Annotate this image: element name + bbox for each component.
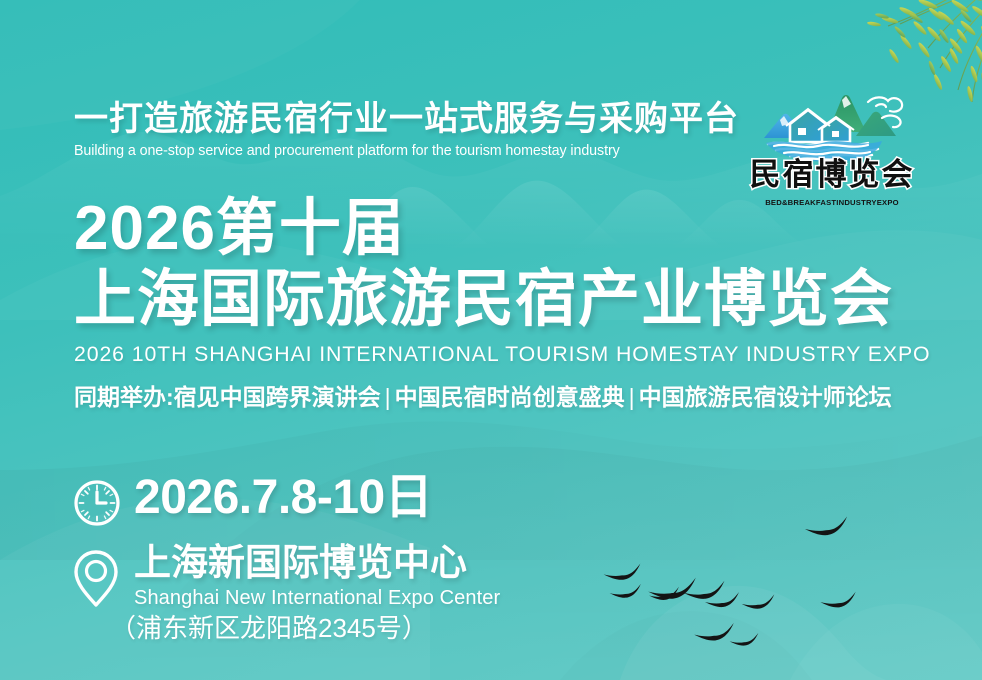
mountain-house-water-icon	[756, 86, 908, 166]
title-block: 2026第十届 上海国际旅游民宿产业博览会 2026 10TH SHANGHAI…	[74, 196, 939, 412]
hills-lower-right	[560, 586, 982, 680]
event-info-block: 2026.7.8-10日 上海新国际博览中心 Shanghai New Inte…	[72, 474, 500, 644]
clock-icon	[72, 478, 122, 528]
concurrent-label: 同期举办:	[74, 384, 174, 410]
date-row: 2026.7.8-10日	[72, 474, 500, 528]
page-title-line1: 2026第十届	[74, 196, 939, 263]
expo-poster: 一打造旅游民宿行业一站式服务与采购平台 Building a one-stop …	[0, 0, 982, 680]
page-title-line2: 上海国际旅游民宿产业博览会	[74, 265, 939, 334]
concurrent-separator-2: |	[625, 384, 639, 410]
concurrent-separator-1: |	[381, 384, 395, 410]
venue-text-group: 上海新国际博览中心 Shanghai New International Exp…	[134, 544, 500, 644]
concurrent-events-line: 同期举办:宿见中国跨界演讲会|中国民宿时尚创意盛典|中国旅游民宿设计师论坛	[74, 378, 939, 412]
concurrent-event-1: 宿见中国跨界演讲会	[174, 384, 381, 410]
tagline-cn: 一打造旅游民宿行业一站式服务与采购平台	[74, 100, 739, 139]
map-pin-icon	[72, 548, 120, 610]
venue-row: 上海新国际博览中心 Shanghai New International Exp…	[72, 544, 500, 644]
expo-logo[interactable]: 民宿博览会 BED&BREAKFASTINDUSTRYEXPO	[742, 86, 922, 211]
concurrent-event-2: 中国民宿时尚创意盛典	[395, 384, 625, 410]
tagline-en: Building a one-stop service and procurem…	[74, 143, 729, 159]
tagline-block: 一打造旅游民宿行业一站式服务与采购平台 Building a one-stop …	[74, 100, 739, 159]
venue-name-cn: 上海新国际博览中心	[134, 544, 500, 583]
venue-name-en: Shanghai New International Expo Center	[134, 586, 500, 611]
date-icon-slot	[72, 474, 134, 528]
page-title-en: 2026 10TH SHANGHAI INTERNATIONAL TOURISM…	[74, 342, 930, 367]
concurrent-event-3: 中国旅游民宿设计师论坛	[639, 384, 892, 410]
logo-wordmark: 民宿博览会	[742, 160, 922, 191]
venue-address: （浦东新区龙阳路2345号）	[110, 613, 500, 644]
venue-icon-slot	[72, 544, 134, 610]
event-date: 2026.7.8-10日	[134, 474, 432, 522]
